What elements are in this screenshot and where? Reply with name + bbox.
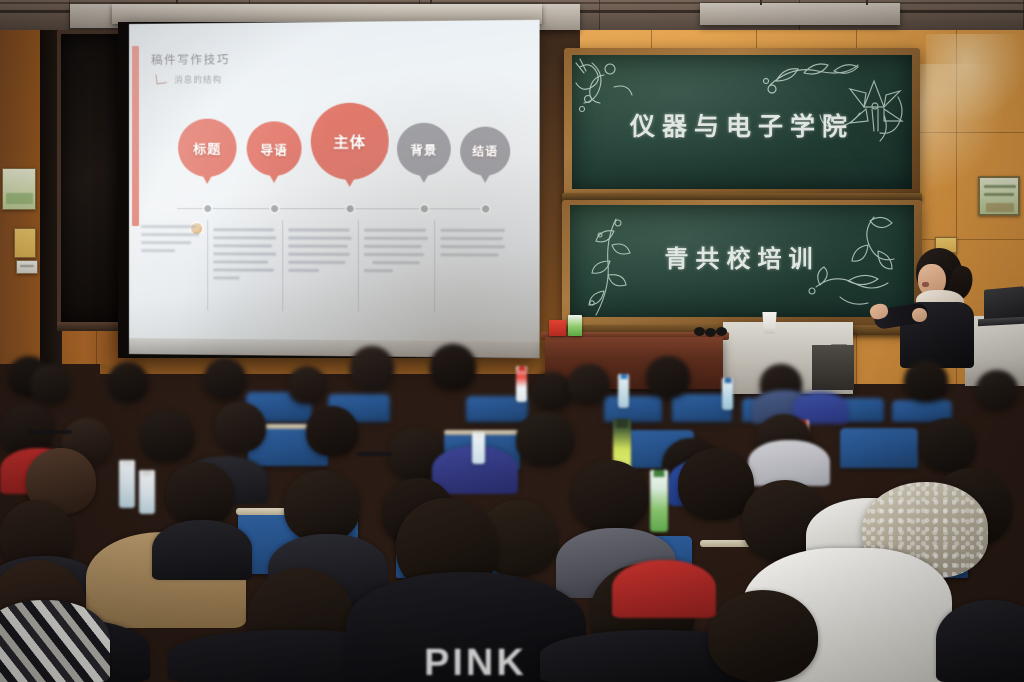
slide-bubble-4-label: 背景 [410, 141, 437, 158]
red-sweater-figure [612, 560, 716, 618]
desk-item-red-box [549, 320, 566, 336]
jacket-marking: PINK [424, 642, 527, 682]
blackboard-bottom-frame: 青共校培训 [562, 200, 922, 330]
presentation-slide: 稿件写作技巧 消息的结构 标题 导语 主体 背景 结语 [129, 20, 540, 358]
slide-bubble-3: 主体 [311, 103, 389, 180]
slide-bubble-1: 标题 [178, 119, 236, 177]
slide-bubble-1-label: 标题 [193, 138, 221, 157]
poster-notice-white [16, 260, 38, 274]
slide-subtitle: 消息的结构 [174, 73, 222, 85]
console-lower-cabinet [812, 345, 854, 390]
blackboard-bottom-text: 青共校培训 [592, 239, 892, 274]
presenter [876, 248, 986, 368]
slide-bubble-5-label: 结语 [472, 143, 498, 159]
slide-accent-bar [132, 46, 139, 226]
side-window-board [57, 30, 125, 328]
blackboard-top-frame: 仪器与电子学院 [564, 48, 920, 196]
poster-framed-right [978, 176, 1020, 216]
slide-title: 稿件写作技巧 [151, 51, 230, 68]
slide-bubble-3-label: 主体 [333, 131, 366, 152]
blackboard-bottom: 青共校培训 [570, 205, 914, 317]
slide-bubble-5: 结语 [460, 127, 510, 176]
eyeglasses [28, 430, 72, 434]
presenter-mouth [922, 282, 929, 287]
blackboard-top-text: 仪器与电子学院 [594, 107, 890, 143]
slide-bubble-2-label: 导语 [260, 139, 287, 158]
blackboard-top: 仪器与电子学院 [572, 55, 912, 189]
desk-item-green-carton [568, 315, 582, 336]
microphone-group [694, 327, 728, 336]
slide-timeline [177, 208, 484, 210]
poster-notice-green [2, 168, 36, 210]
slide-bubble-4: 背景 [397, 123, 451, 176]
slide-bubble-2: 导语 [247, 121, 302, 176]
lecture-hall-photo: 稿件写作技巧 消息的结构 标题 导语 主体 背景 结语 [0, 0, 1024, 682]
ceiling-soffit-right [700, 3, 900, 25]
slide-arrow-icon [155, 73, 166, 84]
eyeglasses-2 [356, 452, 392, 456]
poster-notice-yellow [14, 228, 36, 258]
presenter-hand-right [912, 308, 927, 322]
